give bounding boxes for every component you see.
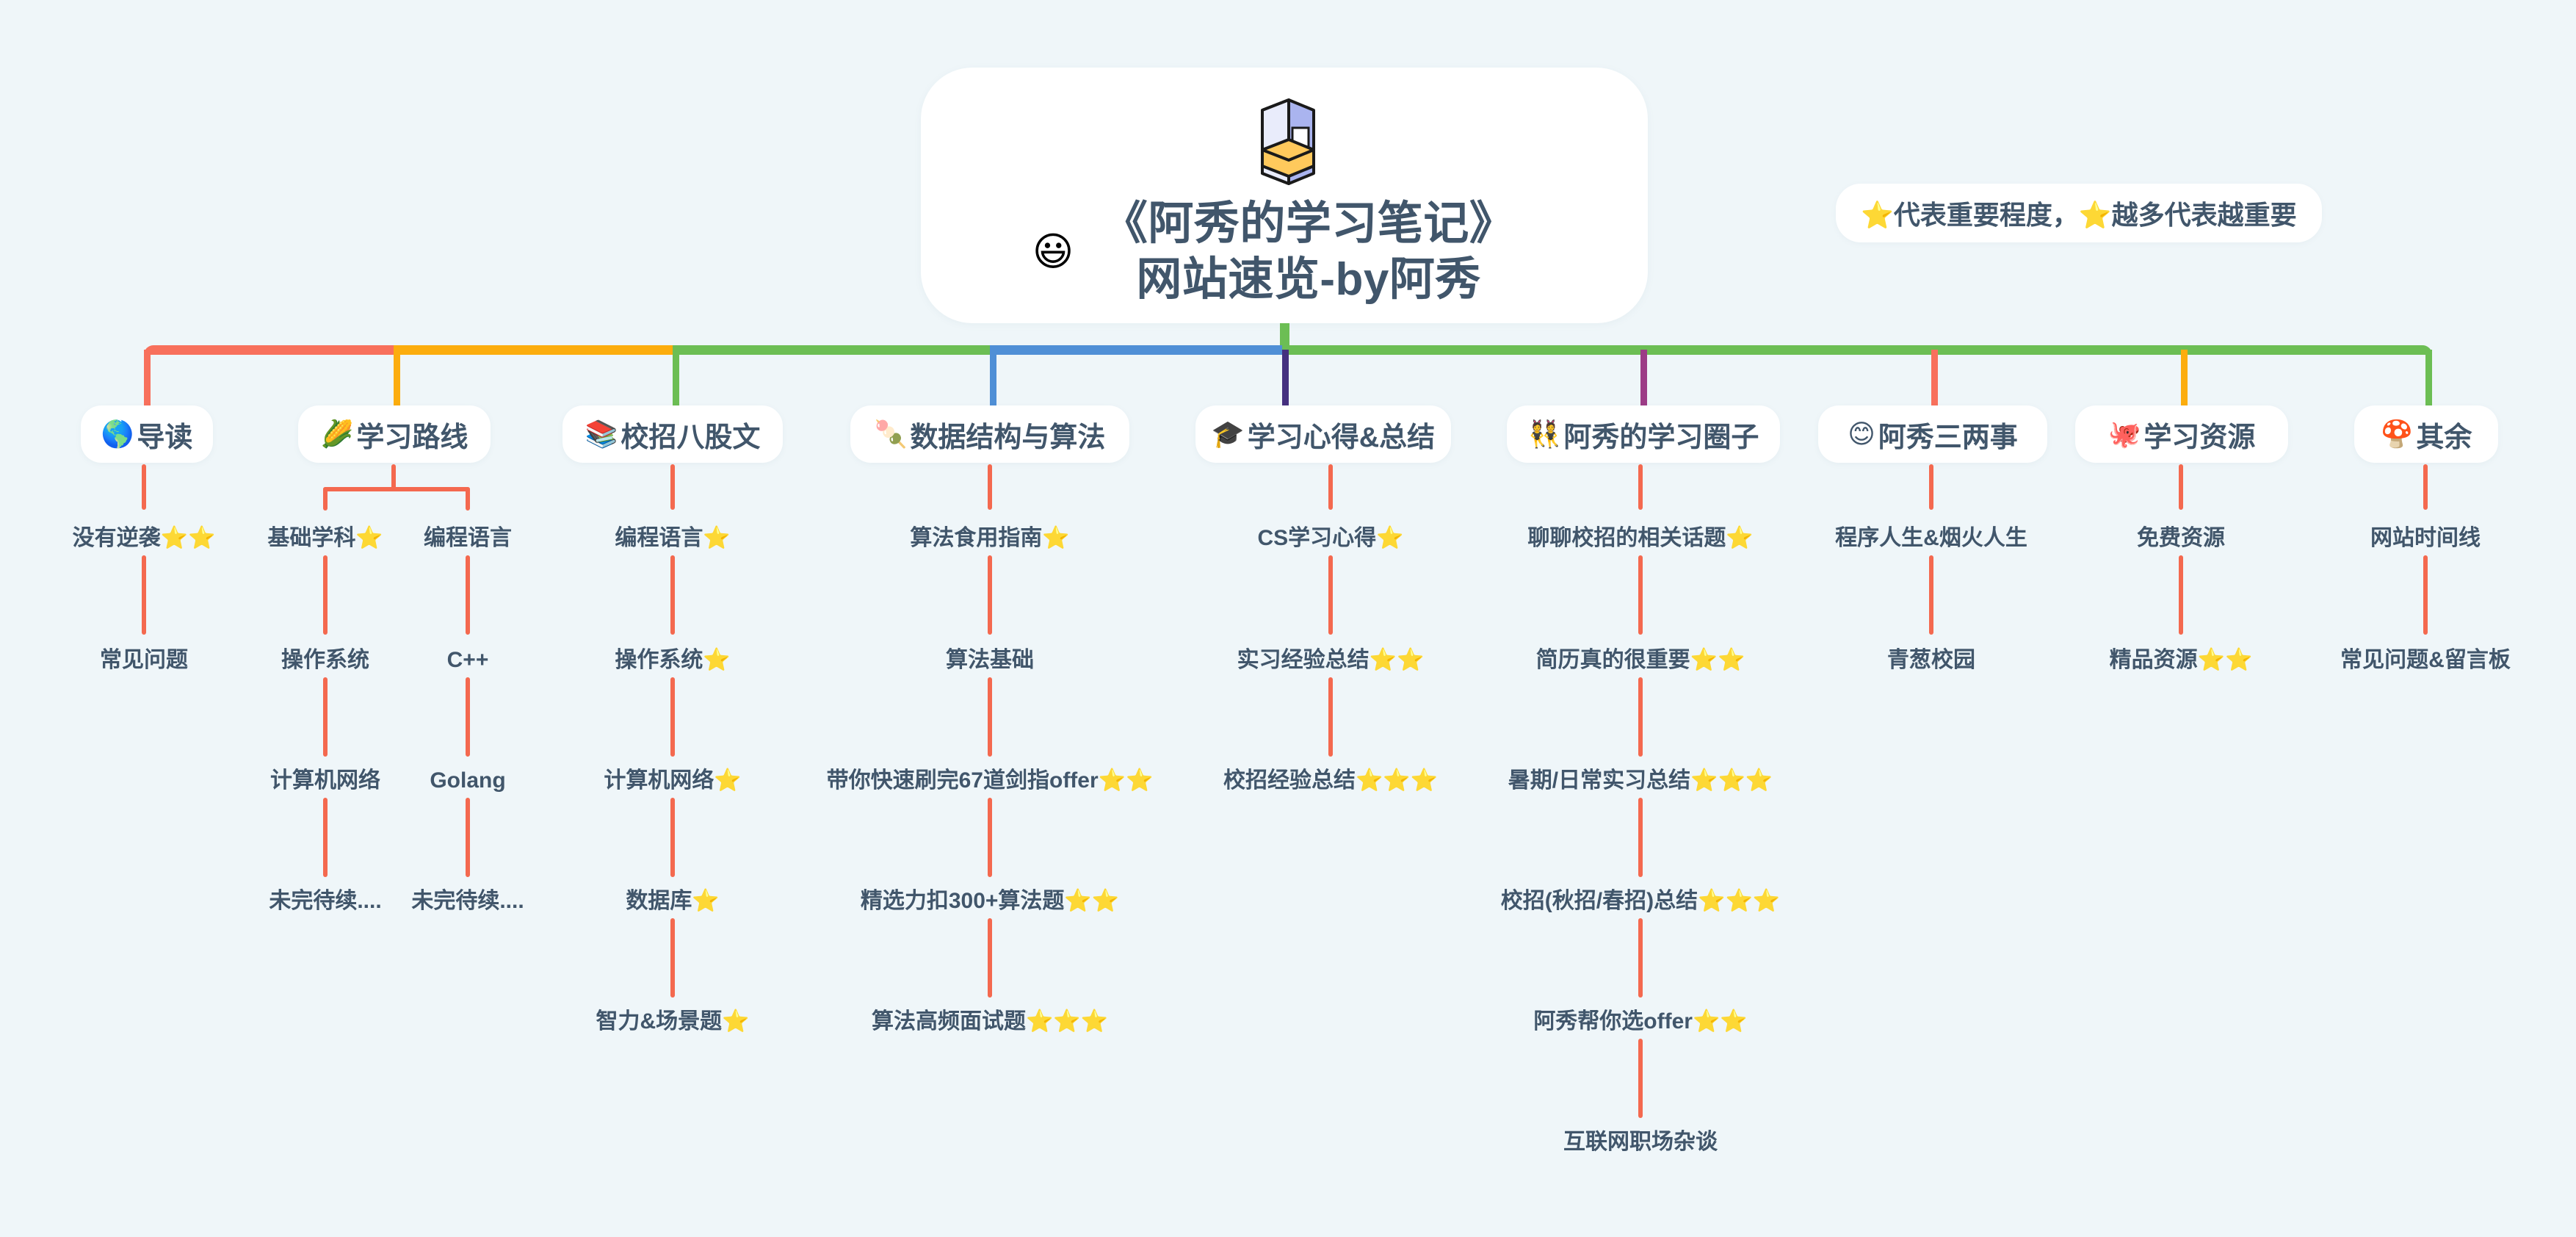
leaf-node[interactable]: 常见问题: [100, 649, 188, 671]
branch-node-2[interactable]: 📚 校招八股文: [562, 405, 783, 463]
leaf-node[interactable]: 阿秀帮你选offer⭐⭐: [1533, 1011, 1747, 1033]
leaf-connector: [1638, 798, 1643, 877]
leaf-connector: [1638, 1039, 1643, 1118]
leaf-connector: [391, 464, 396, 489]
leaf-connector: [1328, 677, 1333, 757]
leaf-node[interactable]: Golang: [430, 770, 505, 792]
branch-label-6: 阿秀三两事: [1878, 414, 2018, 455]
leaf-connector: [323, 487, 470, 491]
leaf-connector: [323, 677, 328, 757]
leaf-node[interactable]: CS学习心得⭐: [1257, 527, 1403, 549]
branch-node-4[interactable]: 🎓 学习心得&总结: [1195, 405, 1451, 463]
bar-segment-orange: [394, 345, 673, 355]
leaf-connector: [1638, 464, 1643, 510]
leaf-node[interactable]: 未完待续....: [411, 890, 524, 912]
mindmap-canvas: 😃 《阿秀的学习笔记》网站速览-by阿秀 ⭐代表重要程度，⭐越多代表越重要 🌎 …: [0, 0, 2576, 1237]
leaf-node[interactable]: 未完待续....: [269, 890, 381, 912]
leaf-connector: [670, 798, 675, 877]
leaf-connector: [670, 555, 675, 635]
branch-label-7: 学习资源: [2143, 414, 2255, 455]
leaf-node[interactable]: 简历真的很重要⭐⭐: [1536, 649, 1745, 671]
branch-label-2: 校招八股文: [621, 414, 760, 455]
leaf-connector: [466, 798, 470, 877]
globe-icon: 🌎: [101, 421, 134, 447]
branch-stem-7: [2181, 350, 2188, 405]
branch-label-5: 阿秀的学习圈子: [1563, 414, 1759, 455]
bar-segment-green-b: [1282, 345, 2432, 355]
branch-stem-0: [144, 350, 151, 405]
leaf-node[interactable]: 算法高频面试题⭐⭐⭐: [872, 1011, 1108, 1033]
leaf-connector: [670, 464, 675, 510]
leaf-connector: [988, 677, 992, 757]
leaf-node[interactable]: 算法基础: [946, 649, 1034, 671]
leaf-connector: [670, 918, 675, 998]
leaf-node[interactable]: 基础学科⭐: [267, 527, 383, 549]
leaf-connector: [2423, 555, 2428, 635]
leaf-node[interactable]: 精品资源⭐⭐: [2110, 649, 2253, 671]
branch-stem-5: [1640, 350, 1647, 405]
leaf-node[interactable]: 校招经验总结⭐⭐⭐: [1223, 770, 1438, 792]
leaf-connector: [1328, 464, 1333, 510]
leaf-connector: [1638, 555, 1643, 635]
branch-stem-1: [394, 350, 400, 405]
branch-node-0[interactable]: 🌎 导读: [81, 405, 213, 463]
leaf-connector: [1929, 555, 1933, 635]
leaf-node[interactable]: 免费资源: [2137, 527, 2225, 549]
leaf-node[interactable]: 操作系统⭐: [615, 649, 730, 671]
leaf-connector: [988, 464, 992, 510]
branch-stem-4: [1282, 350, 1289, 405]
leaf-connector: [1638, 677, 1643, 757]
leaf-node[interactable]: 青葱校园: [1887, 649, 1975, 671]
leaf-node[interactable]: 编程语言⭐: [615, 527, 730, 549]
dango-icon: 🍡: [875, 421, 908, 447]
leaf-connector: [466, 487, 470, 511]
smiling-face-icon: 😊: [1848, 421, 1875, 447]
branch-node-8[interactable]: 🍄 其余: [2354, 405, 2498, 463]
leaf-connector: [142, 464, 146, 510]
root-node[interactable]: 😃 《阿秀的学习笔记》网站速览-by阿秀: [921, 68, 1648, 323]
branch-stem-2: [673, 350, 679, 405]
leaf-connector: [323, 798, 328, 877]
leaf-node[interactable]: 精选力扣300+算法题⭐⭐: [861, 890, 1119, 912]
leaf-connector: [2179, 464, 2183, 510]
mushroom-icon: 🍄: [2381, 421, 2414, 447]
leaf-node[interactable]: 算法食用指南⭐: [910, 527, 1069, 549]
leaf-node[interactable]: 互联网职场杂谈: [1563, 1131, 1718, 1153]
branch-node-1[interactable]: 🌽 学习路线: [298, 405, 491, 463]
grinning-face-icon: 😃: [1032, 232, 1074, 272]
leaf-node[interactable]: 数据库⭐: [626, 890, 719, 912]
leaf-connector: [466, 555, 470, 635]
leaf-node[interactable]: 没有逆袭⭐⭐: [73, 527, 216, 549]
root-stem-connector: [1280, 323, 1289, 345]
branch-node-6[interactable]: 😊 阿秀三两事: [1818, 405, 2047, 463]
leaf-node[interactable]: 计算机网络: [270, 770, 380, 792]
branch-label-4: 学习心得&总结: [1248, 414, 1435, 455]
leaf-node[interactable]: 计算机网络⭐: [604, 770, 741, 792]
leaf-node[interactable]: 网站时间线: [2370, 527, 2481, 549]
branch-node-3[interactable]: 🍡 数据结构与算法: [850, 405, 1129, 463]
branch-node-5[interactable]: 👯 阿秀的学习圈子: [1507, 405, 1780, 463]
leaf-node[interactable]: 实习经验总结⭐⭐: [1237, 649, 1425, 671]
leaf-node[interactable]: 暑期/日常实习总结⭐⭐⭐: [1508, 770, 1773, 792]
leaf-connector: [142, 555, 146, 635]
branch-label-1: 学习路线: [356, 414, 468, 455]
leaf-connector: [2423, 464, 2428, 510]
leaf-connector: [466, 677, 470, 757]
bar-segment-green-a: [673, 345, 990, 355]
legend-badge: ⭐代表重要程度，⭐越多代表越重要: [1836, 184, 2322, 242]
leaf-connector: [323, 487, 328, 511]
leaf-node[interactable]: 编程语言: [424, 527, 512, 549]
closed-book-icon: [1246, 95, 1323, 192]
octopus-icon: 🐙: [2108, 421, 2141, 447]
leaf-connector: [323, 555, 328, 635]
graduation-cap-icon: 🎓: [1212, 421, 1245, 447]
leaf-connector: [1638, 918, 1643, 998]
leaf-node[interactable]: C++: [447, 649, 489, 671]
branch-label-8: 其余: [2416, 414, 2472, 455]
leaf-node[interactable]: 操作系统: [281, 649, 369, 671]
people-with-bunny-ears-icon: 👯: [1528, 421, 1561, 447]
corn-icon: 🌽: [321, 421, 354, 447]
bar-segment-blue: [990, 345, 1282, 355]
leaf-connector: [1328, 555, 1333, 635]
branch-stem-6: [1931, 350, 1938, 405]
bar-segment-red: [144, 345, 394, 355]
books-icon: 📚: [585, 421, 618, 447]
leaf-connector: [670, 677, 675, 757]
leaf-node[interactable]: 常见问题&留言板: [2340, 649, 2511, 671]
branch-stem-8: [2425, 350, 2432, 405]
leaf-node[interactable]: 程序人生&烟火人生: [1835, 527, 2027, 549]
leaf-connector: [1929, 464, 1933, 510]
leaf-connector: [988, 555, 992, 635]
leaf-connector: [2179, 555, 2183, 635]
leaf-node[interactable]: 智力&场景题⭐: [596, 1011, 749, 1033]
branch-stem-3: [990, 350, 996, 405]
page-title: 《阿秀的学习笔记》网站速览-by阿秀: [1081, 196, 1536, 307]
leaf-connector: [988, 918, 992, 998]
leaf-connector: [988, 798, 992, 877]
branch-label-3: 数据结构与算法: [910, 414, 1105, 455]
leaf-node[interactable]: 带你快速刷完67道剑指offer⭐⭐: [827, 770, 1154, 792]
leaf-node[interactable]: 校招(秋招/春招)总结⭐⭐⭐: [1501, 890, 1780, 912]
branch-node-7[interactable]: 🐙 学习资源: [2075, 405, 2288, 463]
leaf-node[interactable]: 聊聊校招的相关话题⭐: [1527, 527, 1753, 549]
branch-label-0: 导读: [137, 414, 192, 455]
